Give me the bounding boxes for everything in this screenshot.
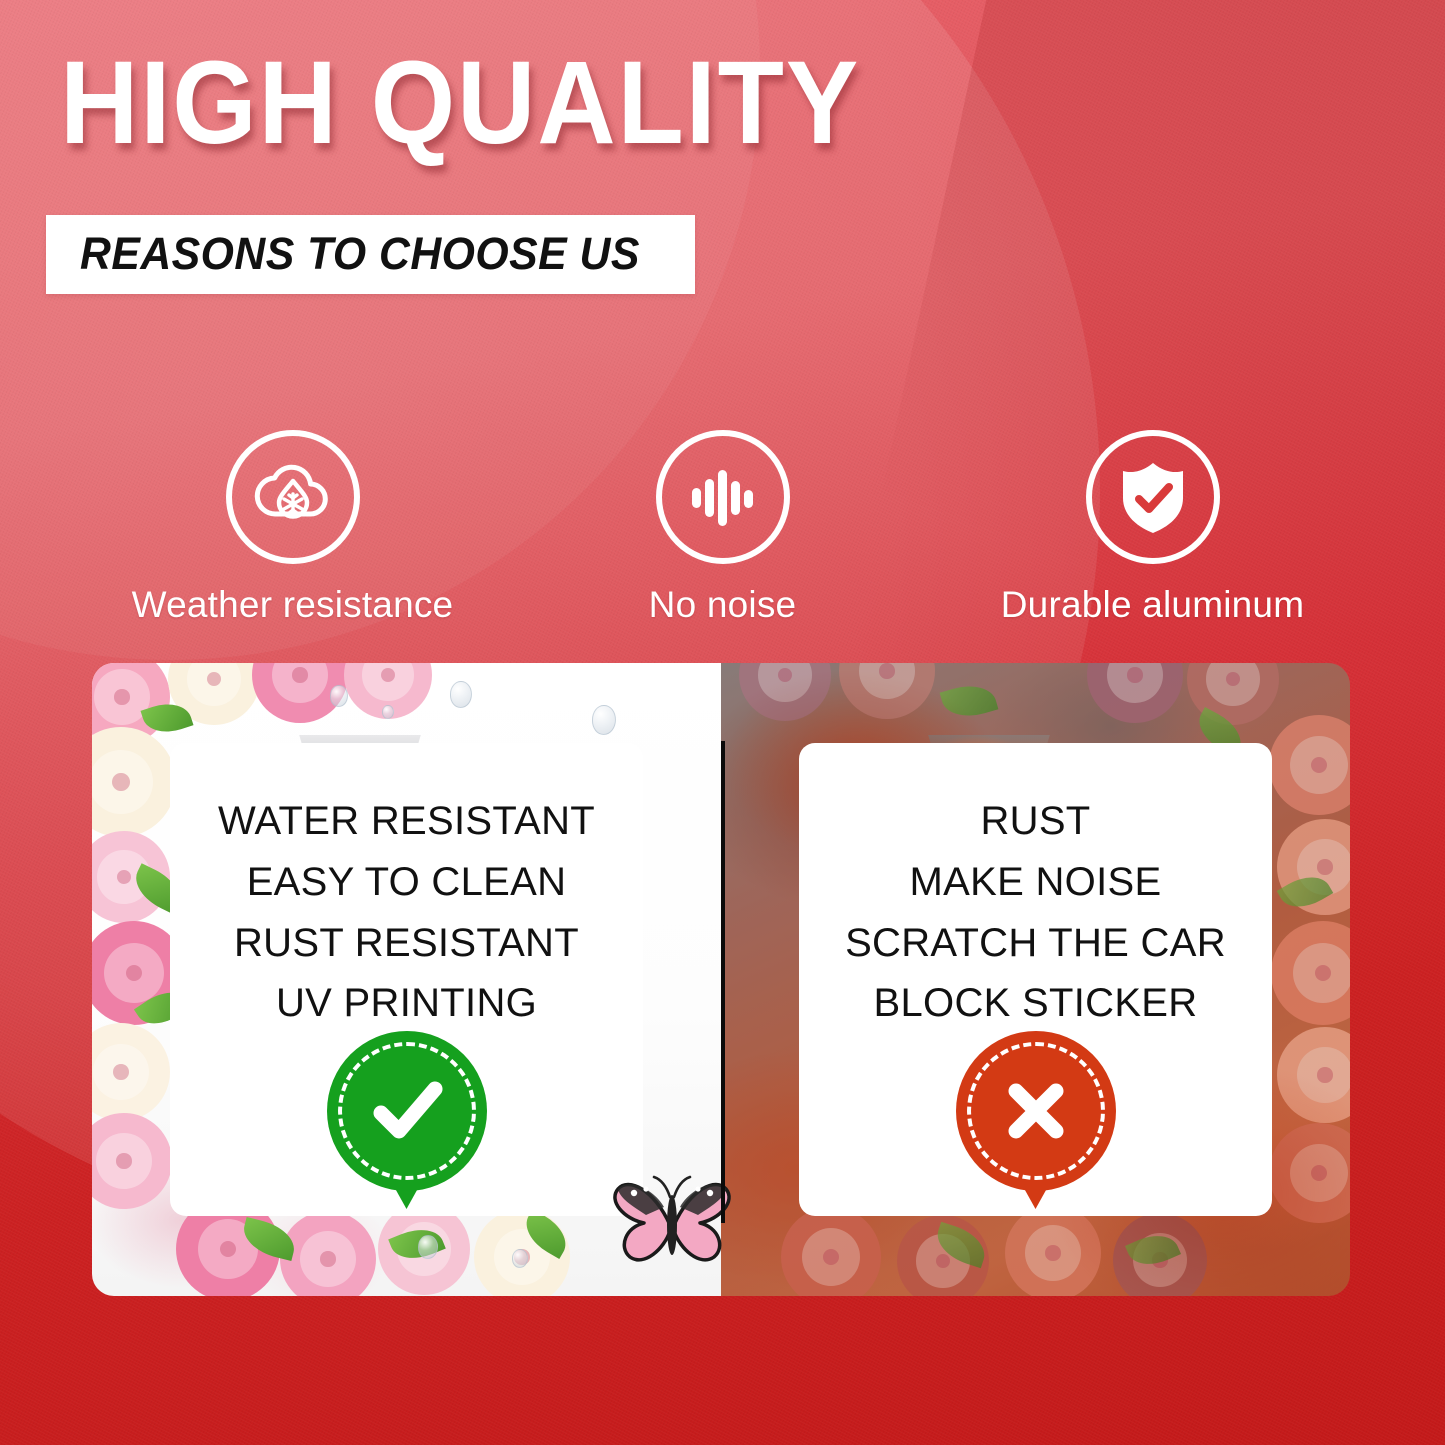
good-verdict-badge bbox=[327, 1031, 487, 1209]
feature-weather-resistance: Weather resistance bbox=[78, 430, 508, 623]
list-item: RUST bbox=[721, 791, 1350, 852]
water-droplet bbox=[418, 1235, 438, 1259]
list-item: UV PRINTING bbox=[92, 973, 721, 1034]
badge-circle bbox=[327, 1031, 487, 1191]
rose-decor bbox=[92, 1023, 170, 1121]
subtitle-text: REASONS TO CHOOSE US bbox=[80, 231, 640, 276]
feature-icon-ring bbox=[1086, 430, 1220, 564]
list-item: RUST RESISTANT bbox=[92, 913, 721, 974]
badge-circle bbox=[956, 1031, 1116, 1191]
list-item: MAKE NOISE bbox=[721, 852, 1350, 913]
water-droplet bbox=[512, 1249, 528, 1268]
rose-decor bbox=[1087, 663, 1183, 723]
list-item: SCRATCH THE CAR bbox=[721, 913, 1350, 974]
feature-label: Weather resistance bbox=[132, 586, 454, 623]
badge-dashed-ring bbox=[967, 1042, 1105, 1180]
rose-decor bbox=[739, 663, 831, 721]
water-droplet bbox=[330, 685, 348, 707]
rose-decor bbox=[1269, 1123, 1350, 1223]
feature-icon-ring bbox=[656, 430, 790, 564]
list-item: BLOCK STICKER bbox=[721, 973, 1350, 1034]
water-droplet bbox=[592, 705, 616, 735]
rose-decor bbox=[781, 1207, 881, 1296]
subtitle-banner: REASONS TO CHOOSE US bbox=[46, 215, 695, 294]
water-droplet bbox=[382, 705, 394, 719]
rose-decor bbox=[92, 1113, 172, 1209]
feature-label: Durable aluminum bbox=[1001, 586, 1304, 623]
rose-decor bbox=[280, 1211, 376, 1296]
rose-decor bbox=[1277, 1027, 1350, 1123]
list-item: EASY TO CLEAN bbox=[92, 852, 721, 913]
feature-icon-ring bbox=[226, 430, 360, 564]
bad-verdict-badge bbox=[956, 1031, 1116, 1209]
product-comparison-panel: WATER RESISTANT EASY TO CLEAN RUST RESIS… bbox=[92, 663, 1350, 1296]
comparison-divider bbox=[721, 741, 725, 1223]
butterfly-icon bbox=[606, 1163, 738, 1269]
feature-row: Weather resistance No noise Durable alu bbox=[0, 430, 1445, 623]
list-item: WATER RESISTANT bbox=[92, 791, 721, 852]
shield-check-icon bbox=[1110, 454, 1196, 540]
page-title: HIGH QUALITY bbox=[60, 44, 860, 162]
good-points-list: WATER RESISTANT EASY TO CLEAN RUST RESIS… bbox=[92, 791, 721, 1034]
comparison-side-bad: RUST MAKE NOISE SCRATCH THE CAR BLOCK ST… bbox=[721, 663, 1350, 1296]
bad-points-list: RUST MAKE NOISE SCRATCH THE CAR BLOCK ST… bbox=[721, 791, 1350, 1034]
rose-decor bbox=[1005, 1205, 1101, 1296]
feature-label: No noise bbox=[649, 586, 797, 623]
sound-wave-icon bbox=[680, 454, 766, 540]
leaf-decor bbox=[940, 678, 999, 723]
rose-decor bbox=[839, 663, 935, 719]
badge-dashed-ring bbox=[338, 1042, 476, 1180]
feature-no-noise: No noise bbox=[508, 430, 938, 623]
cloud-droplet-snowflake-icon bbox=[250, 454, 336, 540]
feature-durable-aluminum: Durable aluminum bbox=[938, 430, 1368, 623]
water-droplet bbox=[450, 681, 472, 708]
